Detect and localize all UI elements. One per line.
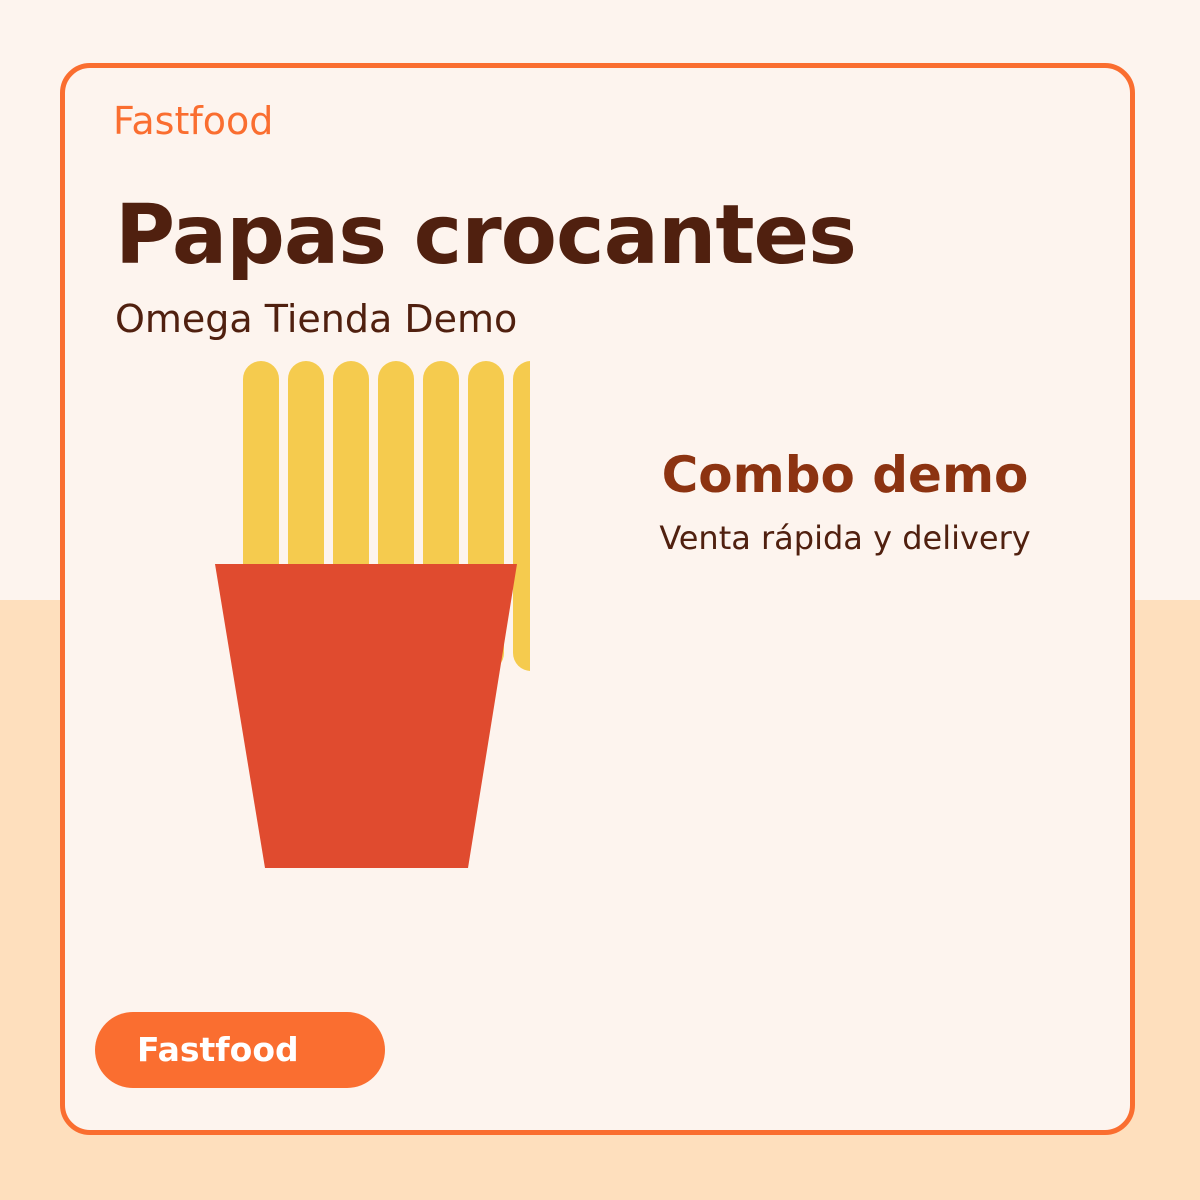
- poster-canvas: Fastfood Papas crocantes Omega Tienda De…: [0, 0, 1200, 1200]
- promo-title: Combo demo: [585, 448, 1105, 503]
- french-fries-icon: [150, 293, 530, 873]
- promo-block: Combo demo Venta rápida y delivery: [585, 448, 1105, 556]
- brand-eyebrow: Fastfood: [113, 99, 273, 143]
- promo-card: Fastfood Papas crocantes Omega Tienda De…: [60, 63, 1135, 1135]
- promo-subtitle: Venta rápida y delivery: [585, 521, 1105, 556]
- fastfood-cta-button[interactable]: Fastfood: [95, 1012, 385, 1088]
- fries-carton: [215, 564, 517, 868]
- page-title: Papas crocantes: [115, 195, 856, 277]
